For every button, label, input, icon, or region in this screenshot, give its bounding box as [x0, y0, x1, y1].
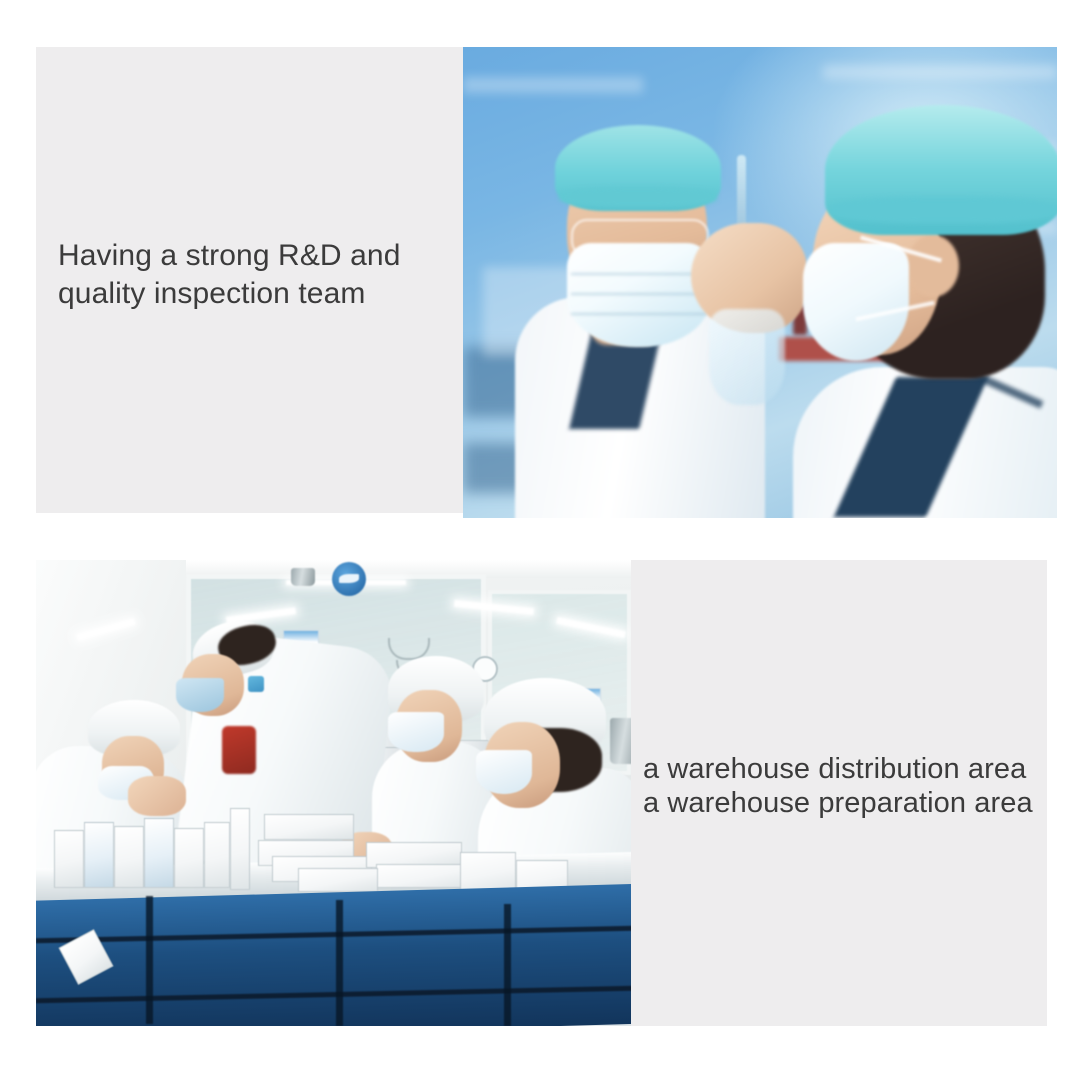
product-box	[298, 868, 378, 892]
lab-worker-facemask-icon	[567, 243, 711, 347]
facemask-icon	[476, 750, 532, 794]
warehouse-caption-box: a warehouse distribution area a warehous…	[631, 560, 1047, 1026]
steel-canister-icon	[291, 568, 315, 586]
facemask-fold	[571, 313, 707, 315]
table-leg	[146, 896, 153, 1024]
product-box	[376, 864, 472, 888]
lab-scene-illustration	[463, 47, 1057, 518]
product-box	[264, 814, 354, 840]
product-box	[460, 852, 516, 892]
facemask-icon	[388, 712, 444, 752]
product-box	[54, 830, 84, 888]
caption-line-1: a warehouse distribution area	[643, 752, 1047, 786]
product-box	[174, 828, 204, 888]
warehouse-caption: a warehouse distribution area a warehous…	[643, 752, 1047, 820]
red-object	[222, 726, 256, 774]
warehouse-photo	[36, 560, 631, 1026]
caption-line-1: Having a strong R&D and	[58, 237, 458, 275]
facemask-fold	[571, 273, 707, 275]
lab-worker-hairnet-band	[831, 197, 1057, 223]
steel-canister-icon	[610, 718, 631, 764]
product-box	[114, 826, 144, 888]
blue-round-sign-icon	[332, 562, 366, 596]
caption-line-2: quality inspection team	[58, 275, 458, 313]
lab-shelf-icon	[463, 77, 643, 93]
product-box	[204, 822, 230, 888]
glass-flask-icon	[709, 309, 785, 405]
quality-inspection-caption: Having a strong R&D and quality inspecti…	[58, 237, 458, 313]
table-leg	[504, 904, 511, 1026]
lab-shelf-icon	[823, 65, 1057, 79]
steel-table-base	[36, 883, 631, 1026]
quality-inspection-caption-box: Having a strong R&D and quality inspecti…	[36, 47, 463, 513]
caption-line-2: a warehouse preparation area	[643, 786, 1047, 820]
quality-inspection-photo	[463, 47, 1057, 518]
worker-hand	[128, 776, 186, 816]
lab-worker-facemask-icon	[803, 243, 909, 361]
badge-icon	[248, 676, 264, 692]
table-leg	[336, 900, 343, 1026]
product-box	[230, 808, 250, 890]
facemask-fold	[571, 293, 707, 295]
lab-worker-hairnet-band	[559, 187, 717, 207]
product-box	[144, 818, 174, 888]
facemask-icon	[176, 678, 224, 712]
warehouse-scene-illustration	[36, 560, 631, 1026]
warehouse-area-panel: a warehouse distribution area a warehous…	[36, 560, 1047, 1026]
lab-worker-ear	[907, 235, 959, 297]
quality-inspection-panel: Having a strong R&D and quality inspecti…	[36, 47, 1057, 518]
product-box	[84, 822, 114, 888]
